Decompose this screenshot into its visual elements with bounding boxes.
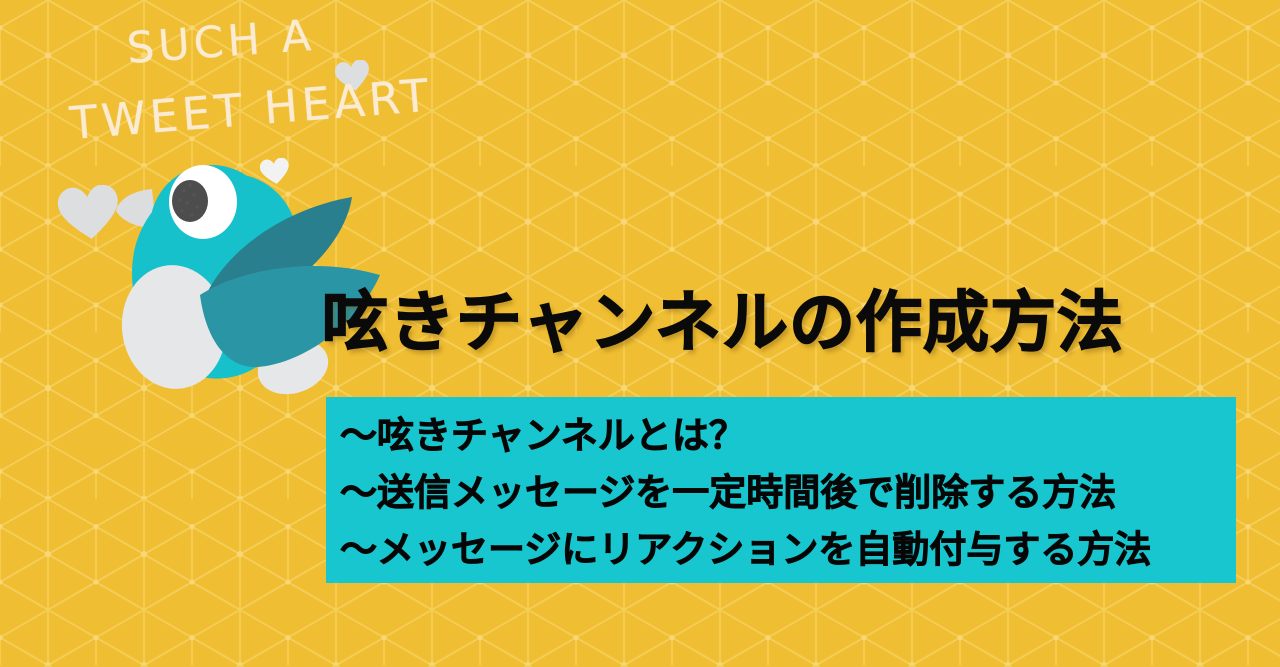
highlight-item-2: ～送信メッセージを一定時間後で削除する方法 xyxy=(340,464,1236,521)
promo-banner: SUCH A TWEET HEART xyxy=(0,0,1280,667)
blue-bird-mascot xyxy=(60,145,440,405)
heart-above-wing-icon xyxy=(260,158,290,185)
highlight-item-3: ～メッセージにリアクションを自動付与する方法 xyxy=(340,521,1236,578)
page-title: 呟きチャンネルの作成方法 xyxy=(322,288,1124,357)
highlights-box: ～呟きチャンネルとは？ ～送信メッセージを一定時間後で削除する方法 ～メッセージ… xyxy=(326,397,1236,583)
highlight-item-1: ～呟きチャンネルとは？ xyxy=(340,407,1236,464)
